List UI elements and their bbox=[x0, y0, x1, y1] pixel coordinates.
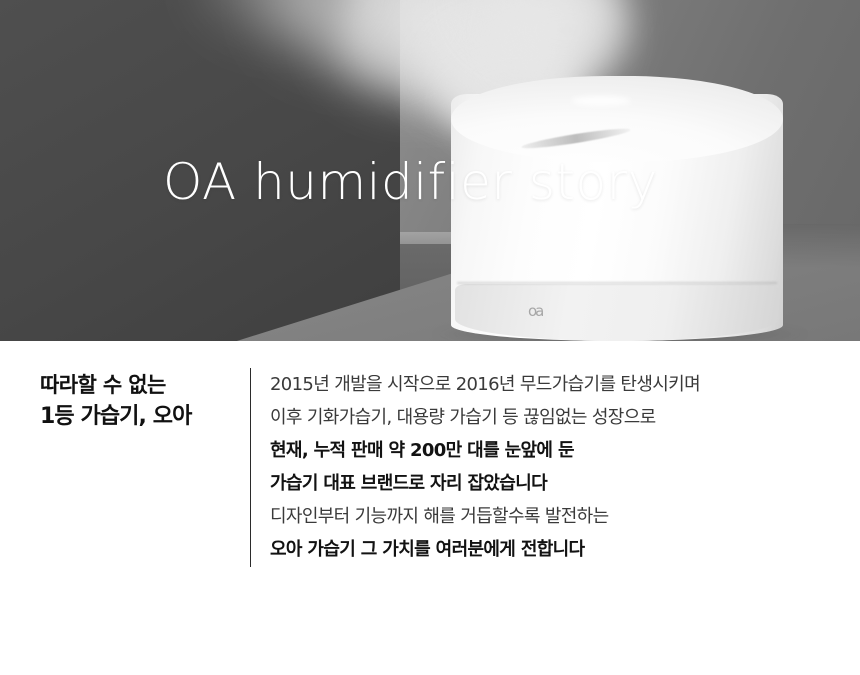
section-headline: 따라할 수 없는 1등 가습기, 오아 bbox=[40, 371, 230, 432]
product-story-page: oa OA humidifier story 따라할 수 없는 1등 가습기, … bbox=[0, 0, 860, 675]
device-top-highlight bbox=[571, 96, 631, 106]
paragraph-line: 오아 가습기 그 가치를 여러분에게 전합니다 bbox=[270, 533, 850, 566]
device-top-dome bbox=[451, 76, 783, 162]
paragraph-line: 2015년 개발을 시작으로 2016년 무드가습기를 탄생시키며 bbox=[270, 368, 850, 401]
paragraph-line: 가습기 대표 브랜드로 자리 잡았습니다 bbox=[270, 467, 850, 500]
paragraph-line: 이후 기화가습기, 대용량 가습기 등 끊임없는 성장으로 bbox=[270, 401, 850, 434]
hero-banner: oa OA humidifier story bbox=[0, 0, 860, 341]
vertical-divider bbox=[250, 368, 251, 567]
headline-line-2: 1등 가습기, 오아 bbox=[40, 401, 230, 432]
paragraph-line: 디자인부터 기능까지 해를 거듭할수록 발전하는 bbox=[270, 500, 850, 533]
headline-line-1: 따라할 수 없는 bbox=[40, 371, 230, 401]
oa-brand-logo-icon: oa bbox=[528, 302, 542, 320]
paragraph-line: 현재, 누적 판매 약 200만 대를 눈앞에 둔 bbox=[270, 434, 850, 467]
story-paragraph: 2015년 개발을 시작으로 2016년 무드가습기를 탄생시키며 이후 기화가… bbox=[270, 368, 850, 566]
device-base bbox=[455, 284, 779, 341]
story-text-section: 따라할 수 없는 1등 가습기, 오아 2015년 개발을 시작으로 2016년… bbox=[0, 341, 860, 675]
hero-title: OA humidifier story bbox=[163, 153, 658, 211]
device-base-seam bbox=[457, 282, 777, 284]
